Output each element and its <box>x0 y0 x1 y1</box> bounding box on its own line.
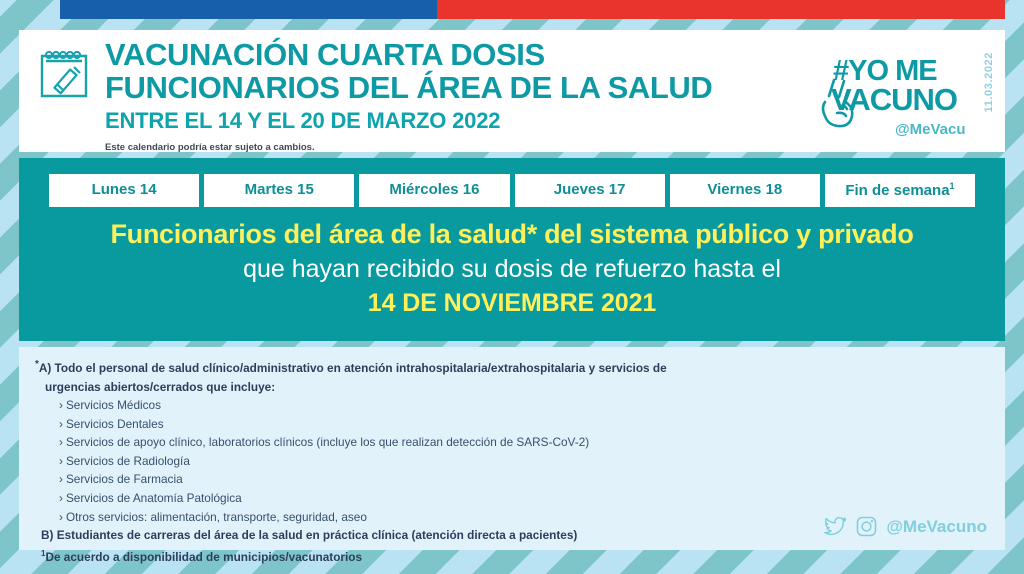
chevron-right-icon: › <box>59 510 63 524</box>
days-row: Lunes 14 Martes 15 Miércoles 16 Jueves 1… <box>49 174 975 207</box>
flag-bar-red <box>437 0 1005 19</box>
day-tab-label: Jueves 17 <box>554 181 626 198</box>
svg-text:VACUNO: VACUNO <box>831 82 957 117</box>
footnote-a-line1: *A) Todo el personal de salud clínico/ad… <box>35 356 989 378</box>
social-links: @MeVacuno <box>824 515 987 538</box>
list-item: ›Servicios de Anatomía Patológica <box>35 489 989 508</box>
disclaimer-note: Este calendario podría estar sujeto a ca… <box>105 141 825 155</box>
list-item-label: Otros servicios: alimentación, transport… <box>66 510 367 524</box>
day-tab-lunes[interactable]: Lunes 14 <box>49 174 199 207</box>
list-item-label: Servicios Dentales <box>66 417 164 431</box>
day-tab-label: Miércoles 16 <box>389 181 479 198</box>
logo-handle: @MeVacuno <box>895 121 965 138</box>
chevron-right-icon: › <box>59 491 63 505</box>
day-tab-fin-de-semana[interactable]: Fin de semana1 <box>825 174 975 207</box>
list-item-label: Servicios de apoyo clínico, laboratorios… <box>66 435 589 449</box>
eligibility-line2: que hayan recibido su dosis de refuerzo … <box>19 252 1005 286</box>
day-tab-label: Viernes 18 <box>707 181 782 198</box>
eligibility-message: Funcionarios del área de la salud* del s… <box>19 216 1005 320</box>
chevron-right-icon: › <box>59 417 63 431</box>
list-item: ›Servicios de Farmacia <box>35 470 989 489</box>
footnote-weekend-text: De acuerdo a disponibilidad de municipio… <box>45 550 362 564</box>
day-tab-footnote-marker: 1 <box>950 181 955 191</box>
list-item: ›Servicios Médicos <box>35 396 989 415</box>
social-handle: @MeVacuno <box>886 517 987 537</box>
header-card: VACUNACIÓN CUARTA DOSIS FUNCIONARIOS DEL… <box>19 30 1005 152</box>
chevron-right-icon: › <box>59 435 63 449</box>
footnote-a-line1-text: A) Todo el personal de salud clínico/adm… <box>39 361 667 375</box>
list-item-label: Servicios de Radiología <box>66 454 190 468</box>
chevron-right-icon: › <box>59 398 63 412</box>
day-tab-label: Martes 15 <box>245 181 314 198</box>
page-title-line1: VACUNACIÓN CUARTA DOSIS <box>105 38 825 71</box>
day-tab-label: Fin de semana <box>845 182 949 199</box>
title-block: VACUNACIÓN CUARTA DOSIS FUNCIONARIOS DEL… <box>105 38 825 155</box>
publication-date: 11.03.2022 <box>983 52 995 112</box>
twitter-bird-icon[interactable] <box>824 515 847 538</box>
day-tab-jueves[interactable]: Jueves 17 <box>515 174 665 207</box>
day-tab-viernes[interactable]: Viernes 18 <box>670 174 820 207</box>
day-tab-miercoles[interactable]: Miércoles 16 <box>359 174 509 207</box>
page-subtitle: ENTRE EL 14 Y EL 20 DE MARZO 2022 <box>105 106 825 136</box>
footnote-panel: *A) Todo el personal de salud clínico/ad… <box>19 347 1005 550</box>
chevron-right-icon: › <box>59 472 63 486</box>
day-tab-martes[interactable]: Martes 15 <box>204 174 354 207</box>
day-tab-label: Lunes 14 <box>92 181 157 198</box>
list-item: ›Servicios de Radiología <box>35 452 989 471</box>
chevron-right-icon: › <box>59 454 63 468</box>
poster-root: VACUNACIÓN CUARTA DOSIS FUNCIONARIOS DEL… <box>0 0 1024 574</box>
eligibility-line1: Funcionarios del área de la salud* del s… <box>19 216 1005 252</box>
eligibility-deadline-date: 14 DE NOVIEMBRE 2021 <box>19 286 1005 320</box>
page-title-line2: FUNCIONARIOS DEL ÁREA DE LA SALUD <box>105 71 825 104</box>
calendar-syringe-icon <box>33 44 95 106</box>
instagram-icon[interactable] <box>855 515 878 538</box>
list-item-label: Servicios de Farmacia <box>66 472 183 486</box>
yo-me-vacuno-logo: #YO ME VACUNO @MeVacuno <box>817 48 965 142</box>
list-item-label: Servicios de Anatomía Patológica <box>66 491 242 505</box>
list-item-label: Servicios Médicos <box>66 398 161 412</box>
flag-bar-blue <box>60 0 437 19</box>
list-item: ›Servicios Dentales <box>35 415 989 434</box>
footnote-a-line2: urgencias abiertos/cerrados que incluye: <box>35 378 989 397</box>
list-item: ›Servicios de apoyo clínico, laboratorio… <box>35 433 989 452</box>
calendar-panel: Lunes 14 Martes 15 Miércoles 16 Jueves 1… <box>19 158 1005 341</box>
footnote-weekend-note: 1De acuerdo a disponibilidad de municipi… <box>35 545 989 567</box>
